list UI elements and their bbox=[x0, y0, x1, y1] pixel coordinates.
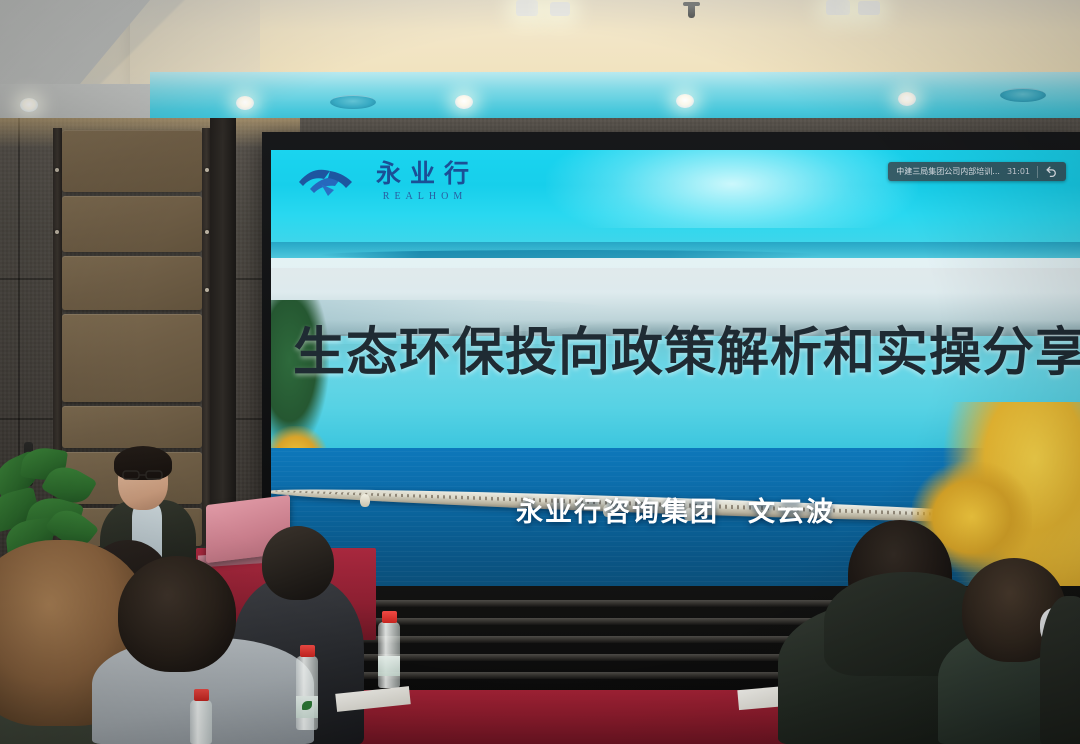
rail-screw bbox=[205, 168, 209, 172]
track-spotlight bbox=[858, 1, 880, 15]
bottle-cap bbox=[194, 689, 209, 701]
presenter-glasses bbox=[122, 470, 164, 480]
acoustic-wall-panel bbox=[62, 406, 202, 448]
water-bottle bbox=[190, 700, 212, 744]
acoustic-wall-panel bbox=[62, 130, 202, 192]
rail-screw bbox=[205, 288, 209, 292]
water-bottle bbox=[378, 622, 400, 688]
screen-toast-notification[interactable]: 中建三局集团公司内部培训... 31:01 bbox=[888, 162, 1066, 181]
toast-divider bbox=[1037, 166, 1038, 178]
bottle-cap bbox=[300, 645, 315, 657]
rail-screw bbox=[205, 230, 209, 234]
slide-logo: 永业行 REALHOM bbox=[297, 162, 478, 202]
rail-screw bbox=[55, 230, 59, 234]
led-screen[interactable]: 永业行 REALHOM 中建三局集团公司内部培训... 31:01 生态环保投向… bbox=[271, 150, 1080, 587]
audience-head bbox=[262, 526, 334, 600]
ceiling-air-vent bbox=[330, 95, 376, 109]
rail-screw bbox=[55, 168, 59, 172]
recessed-downlight bbox=[236, 96, 254, 110]
bottle-label bbox=[378, 656, 400, 676]
slide-title: 生态环保投向政策解析和实操分享 bbox=[293, 328, 1080, 380]
ceiling-sprinkler bbox=[688, 2, 695, 18]
slide-subtitle: 永业行咨询集团 文云波 bbox=[271, 490, 1080, 529]
realhom-wave-logo-icon bbox=[297, 162, 355, 202]
acoustic-wall-panel bbox=[62, 256, 202, 310]
recessed-downlight bbox=[676, 94, 694, 108]
return-arrow-icon[interactable] bbox=[1045, 165, 1058, 178]
water-bottle bbox=[296, 656, 318, 730]
audience-body bbox=[1040, 596, 1080, 744]
photo-scene: 永业行 REALHOM 中建三局集团公司内部培训... 31:01 生态环保投向… bbox=[0, 0, 1080, 744]
toast-timer: 31:01 bbox=[1007, 167, 1030, 176]
track-spotlight bbox=[550, 2, 570, 16]
track-spotlight bbox=[516, 0, 538, 16]
acoustic-wall-panel bbox=[62, 196, 202, 252]
slide-logo-english: REALHOM bbox=[378, 192, 467, 202]
slide-logo-text: 永业行 REALHOM bbox=[367, 162, 478, 202]
recessed-downlight bbox=[455, 95, 473, 109]
acoustic-wall-panel bbox=[62, 314, 202, 402]
track-spotlight bbox=[826, 0, 850, 15]
audience-head bbox=[118, 556, 236, 672]
toast-message: 中建三局集团公司内部培训... bbox=[896, 166, 1000, 177]
ceiling-air-vent bbox=[1000, 88, 1046, 102]
slide-sky-glow bbox=[546, 150, 918, 228]
recessed-downlight bbox=[20, 98, 38, 112]
slide-logo-chinese: 永业行 bbox=[367, 162, 478, 187]
bottle-cap bbox=[382, 611, 397, 623]
recessed-downlight bbox=[898, 92, 916, 106]
